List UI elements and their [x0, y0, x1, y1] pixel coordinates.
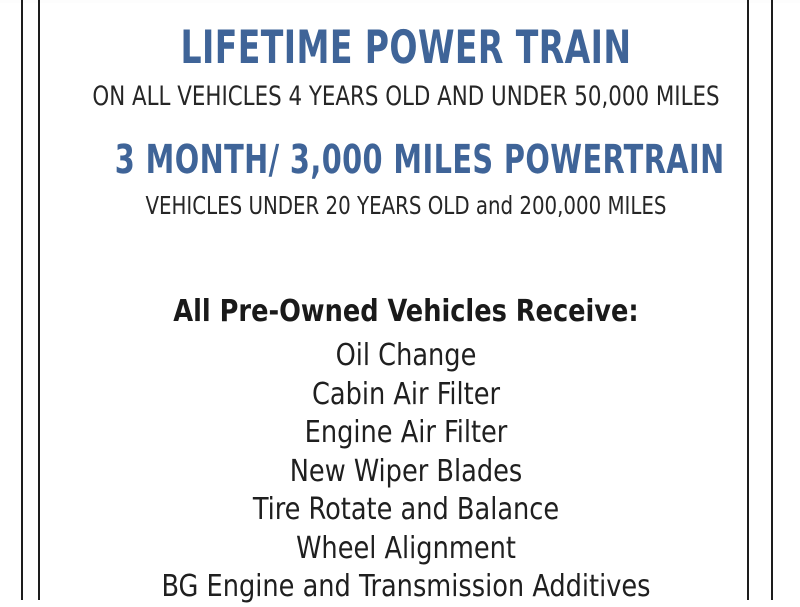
services-list: Oil Change Cabin Air Filter Engine Air F… [42, 337, 770, 607]
flyer-content: LIFETIME POWER TRAIN ON ALL VEHICLES 4 Y… [42, 0, 770, 600]
right-outer-rule [771, 0, 773, 600]
lifetime-power-train-headline: LIFETIME POWER TRAIN [115, 24, 697, 70]
service-item: New Wiper Blades [60, 453, 752, 492]
service-item: Tire Rotate and Balance [60, 491, 752, 530]
warranty-block-lifetime-power-train: LIFETIME POWER TRAIN ON ALL VEHICLES 4 Y… [42, 24, 770, 110]
pre-owned-services-block: All Pre-Owned Vehicles Receive: Oil Chan… [42, 297, 770, 607]
three-month-powertrain-headline: 3 MONTH/ 3,000 MILES POWERTRAIN [115, 140, 697, 180]
service-item: Cabin Air Filter [60, 376, 752, 415]
warranty-block-three-month-powertrain: 3 MONTH/ 3,000 MILES POWERTRAIN VEHICLES… [42, 140, 770, 218]
flyer-page: LIFETIME POWER TRAIN ON ALL VEHICLES 4 Y… [0, 0, 800, 600]
three-month-powertrain-subline: VEHICLES UNDER 20 YEARS OLD and 200,000 … [86, 193, 727, 218]
service-item: Wheel Alignment [60, 530, 752, 569]
service-item: Oil Change [60, 337, 752, 376]
lifetime-power-train-subline: ON ALL VEHICLES 4 YEARS OLD AND UNDER 50… [86, 83, 727, 110]
left-outer-rule [21, 0, 23, 600]
service-item: Engine Air Filter [60, 414, 752, 453]
services-heading: All Pre-Owned Vehicles Receive: [60, 297, 752, 327]
service-item: BG Engine and Transmission Additives [60, 568, 752, 607]
left-inner-rule [38, 0, 40, 600]
